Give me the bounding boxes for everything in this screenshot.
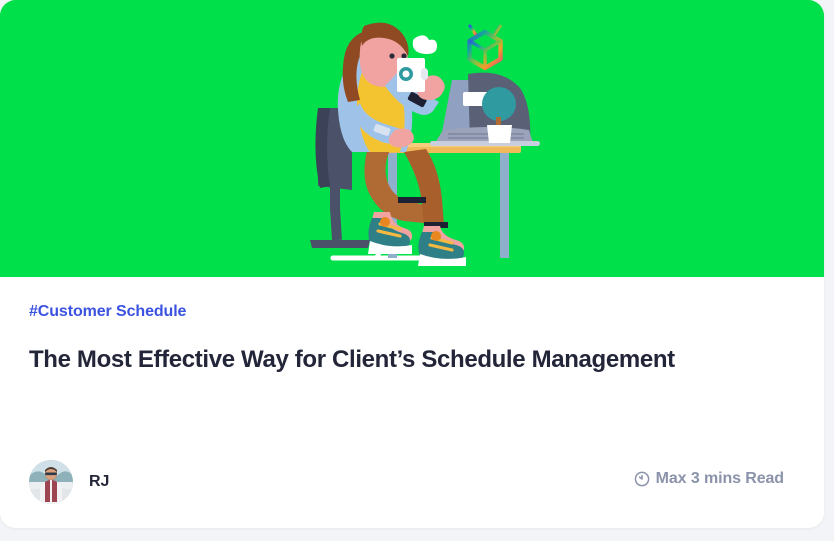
hero-illustration [0, 0, 824, 277]
hero-banner [0, 0, 824, 277]
author-block[interactable]: RJ [29, 460, 109, 504]
clock-icon [634, 471, 650, 487]
read-time-label: Max 3 mins Read [656, 470, 784, 488]
article-meta-row: RJ Max 3 mins Read [0, 460, 824, 522]
author-name: RJ [89, 473, 109, 491]
avatar [29, 460, 73, 504]
article-body: #Customer Schedule The Most Effective Wa… [0, 277, 824, 528]
read-time: Max 3 mins Read [634, 470, 784, 488]
article-card[interactable]: #Customer Schedule The Most Effective Wa… [0, 0, 824, 528]
article-tag-link[interactable]: #Customer Schedule [29, 303, 186, 321]
article-title: The Most Effective Way for Client’s Sche… [29, 344, 784, 376]
